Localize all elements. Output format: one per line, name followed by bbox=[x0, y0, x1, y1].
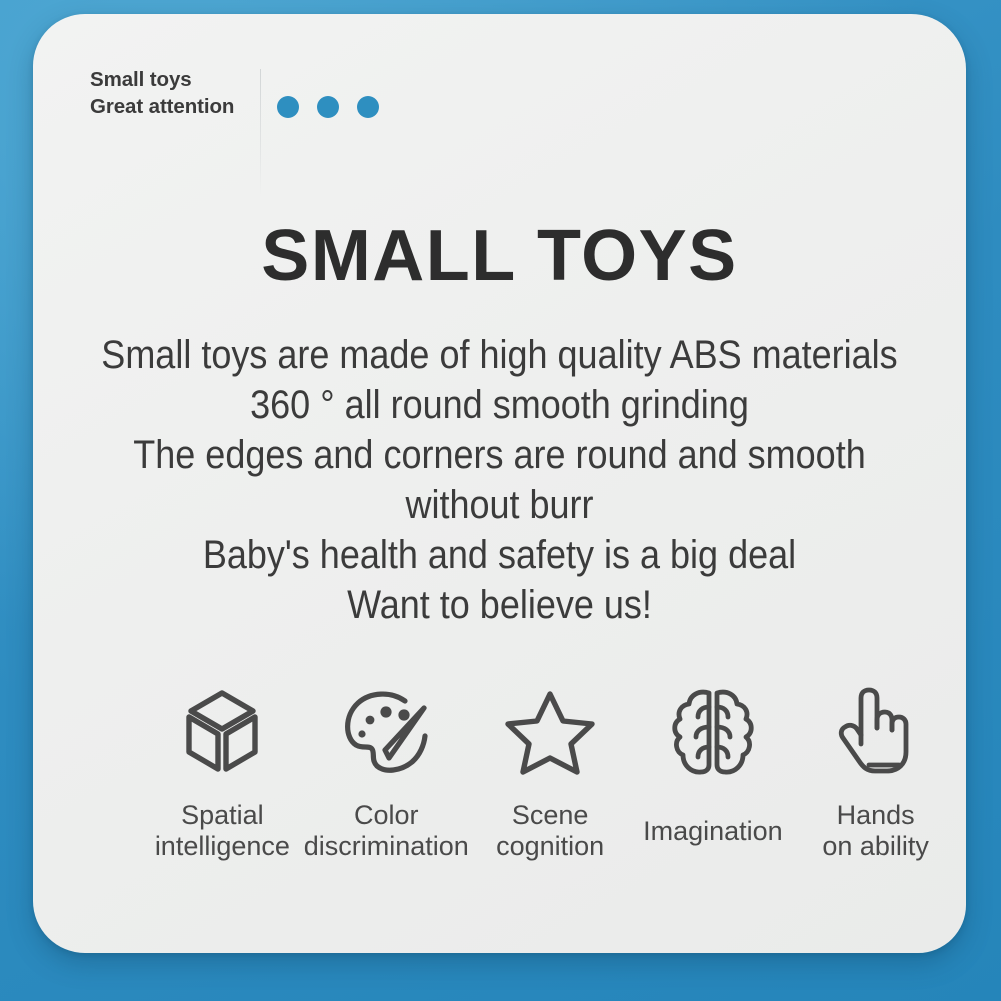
feature-label-line-1: Scene bbox=[496, 800, 604, 831]
feature-label-line-2: discrimination bbox=[304, 831, 469, 862]
feature-label-imagination: Imagination bbox=[643, 800, 783, 862]
feature-label-line-1: Spatial bbox=[155, 800, 290, 831]
pointing-hand-icon bbox=[837, 686, 915, 778]
feature-item-spatial-intelligence: Spatial intelligence bbox=[141, 686, 304, 862]
feature-label-line-2: cognition bbox=[496, 831, 604, 862]
brain-icon bbox=[671, 686, 755, 778]
brand-tagline-line-2: Great attention bbox=[90, 93, 234, 120]
feature-list: Spatial intelligence C bbox=[141, 686, 957, 862]
brand-tagline: Small toys Great attention bbox=[90, 66, 234, 121]
feature-label-line-1: Hands bbox=[822, 800, 929, 831]
dot-indicator-3 bbox=[357, 96, 379, 118]
feature-label-line-1: Imagination bbox=[643, 816, 783, 847]
dot-indicator-2 bbox=[317, 96, 339, 118]
description-line: Baby's health and safety is a big deal bbox=[98, 530, 902, 580]
star-icon bbox=[504, 686, 596, 778]
dot-group bbox=[277, 96, 379, 118]
feature-label-line-2: intelligence bbox=[155, 831, 290, 862]
feature-label-scene-cognition: Scene cognition bbox=[496, 800, 604, 862]
feature-item-imagination: Imagination bbox=[632, 686, 795, 862]
description-line: without burr bbox=[98, 480, 902, 530]
feature-label-color-discrimination: Color discrimination bbox=[304, 800, 469, 862]
feature-label-line-2: on ability bbox=[822, 831, 929, 862]
feature-label-line-1: Color bbox=[304, 800, 469, 831]
feature-label-hands-on-ability: Hands on ability bbox=[822, 800, 929, 862]
product-card-stage: Small toys Great attention SMALL TOYS Sm… bbox=[0, 0, 1001, 1001]
brand-tagline-line-1: Small toys bbox=[90, 66, 234, 93]
feature-item-scene-cognition: Scene cognition bbox=[469, 686, 632, 862]
cube-icon bbox=[180, 686, 264, 778]
palette-icon bbox=[339, 686, 433, 778]
description-line: Small toys are made of high quality ABS … bbox=[98, 330, 902, 380]
dot-indicator-1 bbox=[277, 96, 299, 118]
page-title: SMALL TOYS bbox=[33, 220, 966, 292]
card-header: Small toys Great attention bbox=[90, 66, 379, 121]
feature-label-spatial-intelligence: Spatial intelligence bbox=[155, 800, 290, 862]
description-line: The edges and corners are round and smoo… bbox=[98, 430, 902, 480]
description-line: Want to believe us! bbox=[98, 580, 902, 630]
vertical-divider bbox=[260, 69, 261, 197]
product-info-card: Small toys Great attention SMALL TOYS Sm… bbox=[33, 14, 966, 953]
feature-item-hands-on-ability: Hands on ability bbox=[794, 686, 957, 862]
feature-item-color-discrimination: Color discrimination bbox=[304, 686, 469, 862]
description-line: 360 ° all round smooth grinding bbox=[98, 380, 902, 430]
description-block: Small toys are made of high quality ABS … bbox=[53, 330, 946, 630]
